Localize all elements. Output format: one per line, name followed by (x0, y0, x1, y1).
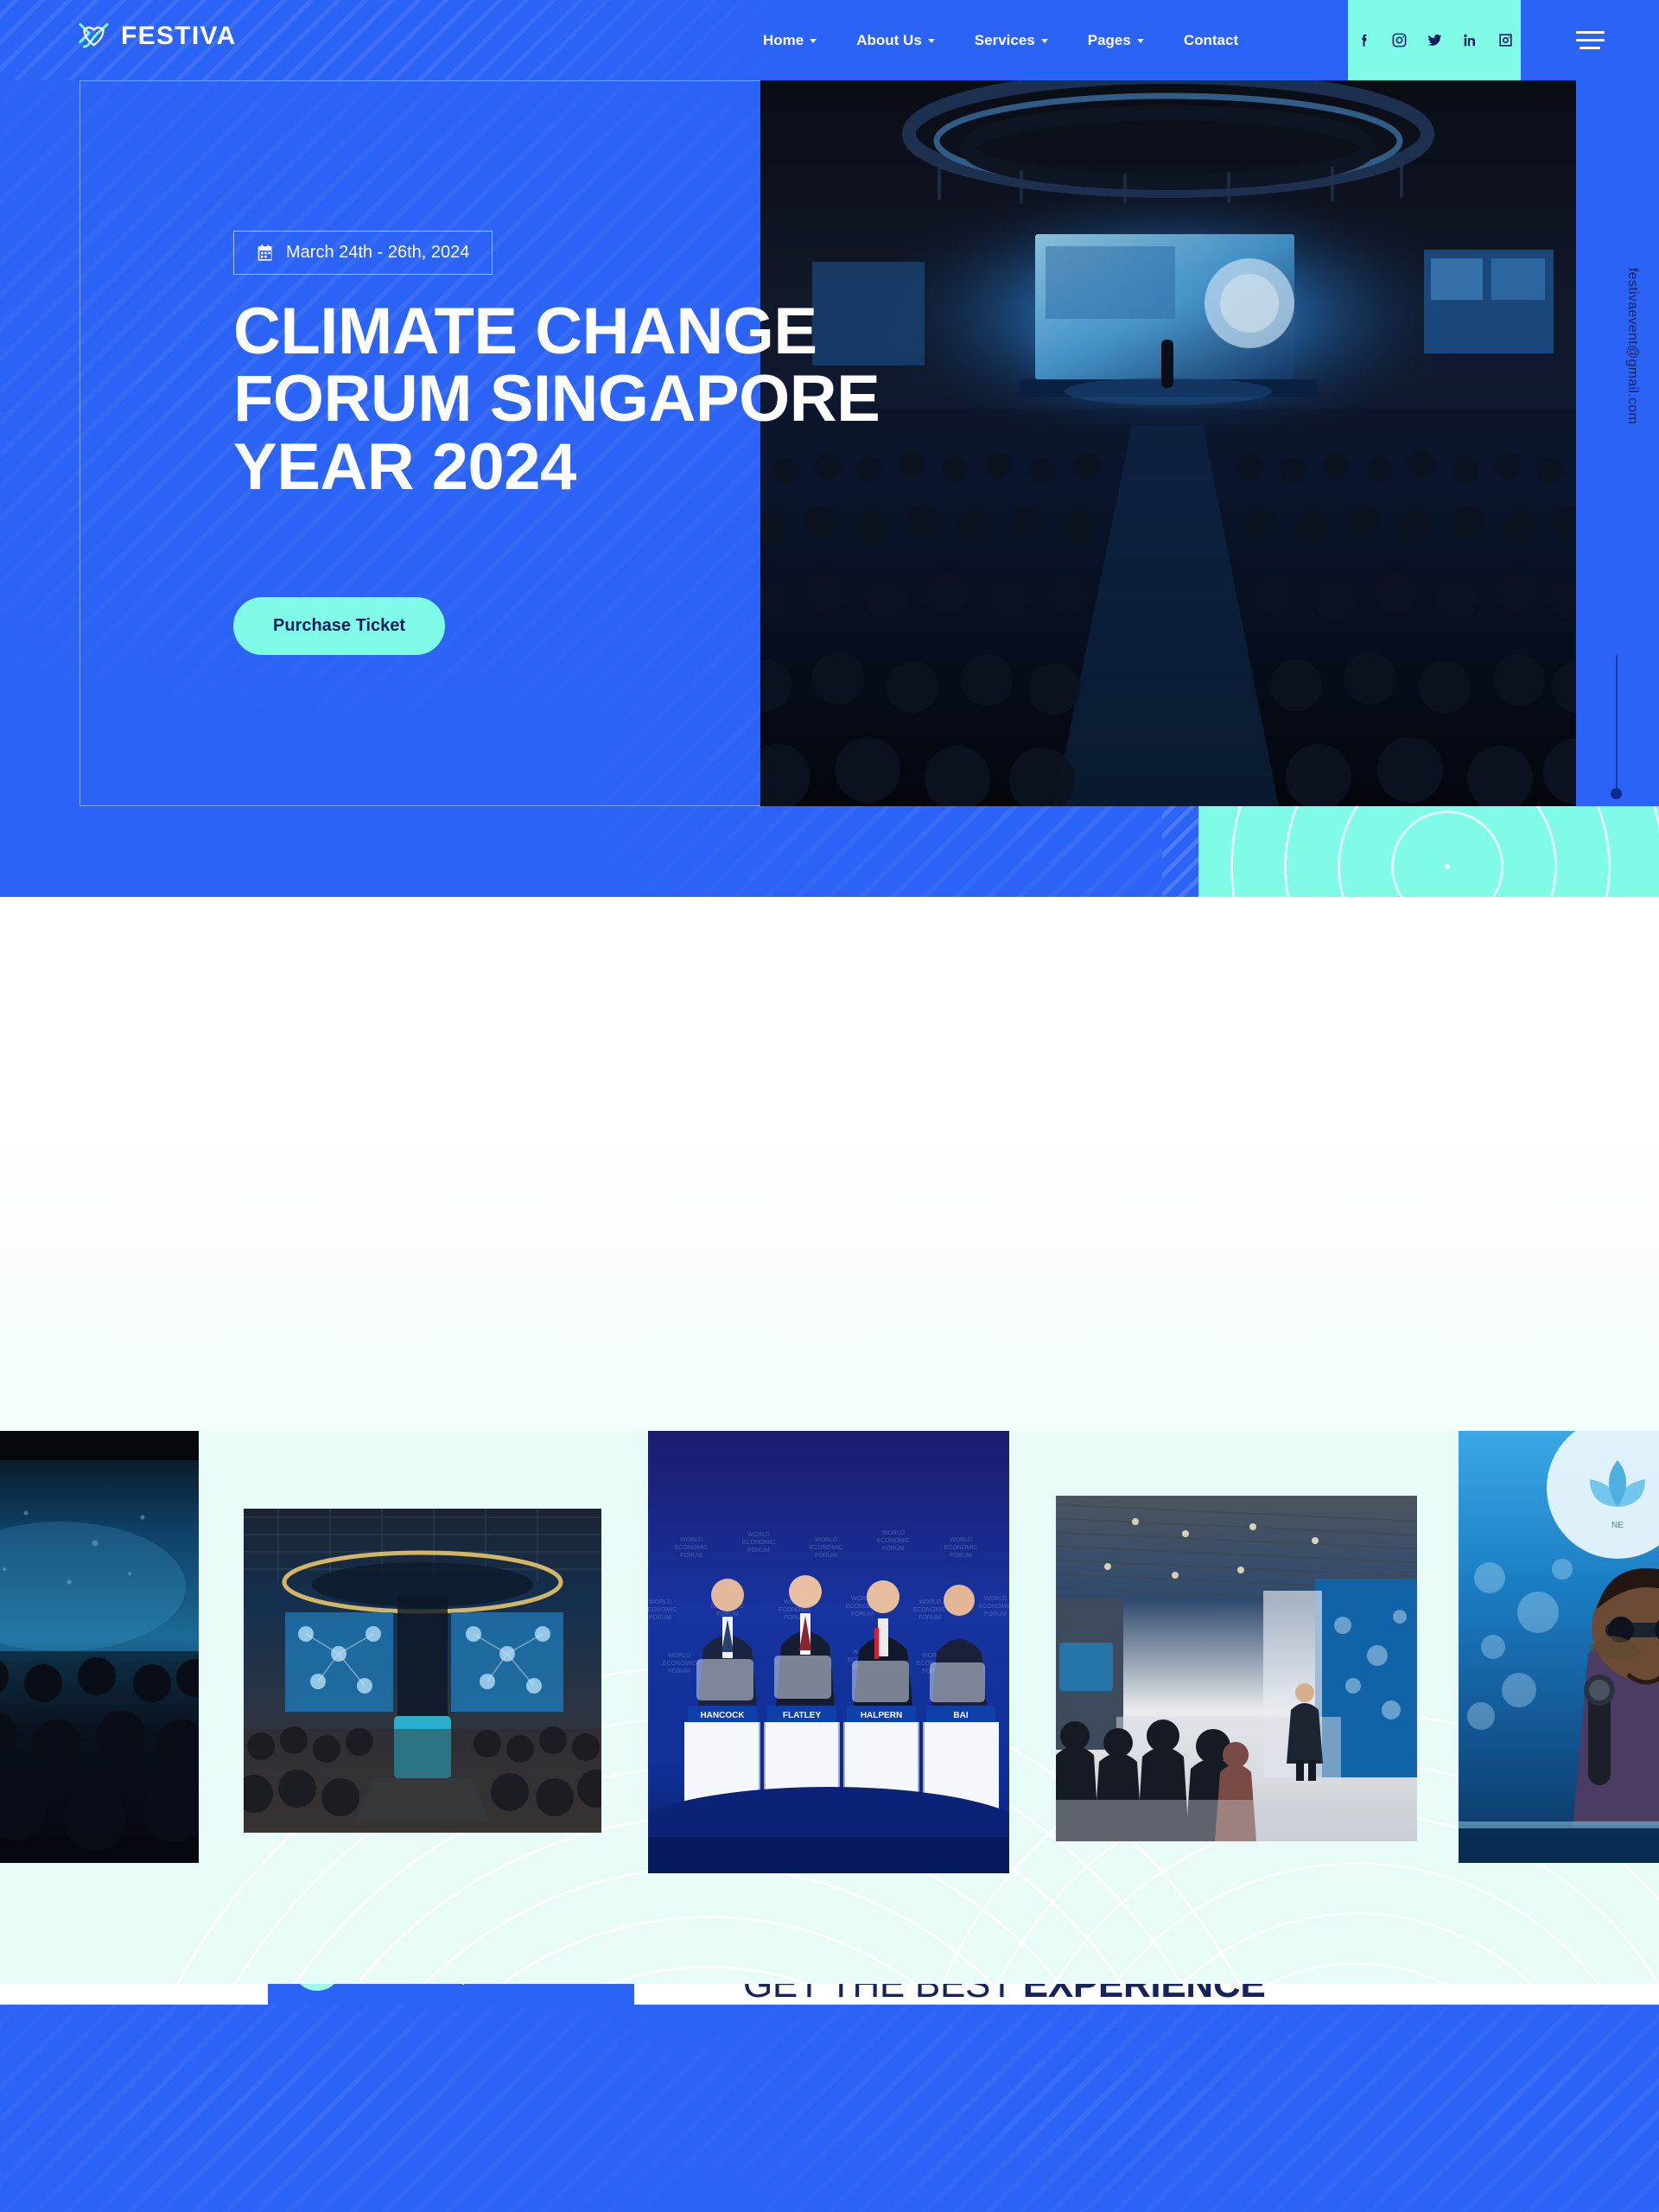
hero-mint-decoration (1162, 806, 1659, 897)
nav-label: About Us (856, 32, 922, 49)
burger-line (1580, 47, 1600, 49)
instagram-icon[interactable] (1391, 32, 1408, 48)
hero-title-line-1: CLIMATE CHANGE (233, 298, 1097, 365)
hero-blue-strip-decoration (1162, 806, 1198, 897)
svg-text:FORUM: FORUM (984, 1611, 1007, 1618)
nav-label: Pages (1088, 32, 1131, 49)
chevron-down-icon (928, 39, 935, 43)
svg-text:FORUM: FORUM (851, 1611, 874, 1618)
gallery-section: WORLDECONOMICFORUM WORLDECONOMICFORUM WO… (0, 1431, 1659, 1984)
svg-text:FORUM: FORUM (815, 1553, 837, 1559)
stats-section: 03 Days of Event 2k Registered Participa… (0, 2005, 1659, 2212)
brand-logo[interactable]: FESTIVA (78, 22, 237, 51)
event-date-text: March 24th - 26th, 2024 (286, 243, 469, 263)
facebook-icon[interactable] (1356, 32, 1372, 48)
svg-text:WORLD: WORLD (950, 1537, 972, 1543)
gallery-item-2[interactable] (244, 1509, 601, 1833)
about-event-section: 20-25 February, 2024 7.00 am - 8.00pm Mi… (0, 897, 1659, 1431)
side-scroll-line (1616, 655, 1618, 789)
hero-section: March 24th - 26th, 2024 CLIMATE CHANGE F… (0, 0, 1659, 897)
calendar-icon (257, 244, 274, 262)
svg-text:ECONOMIC: ECONOMIC (648, 1607, 677, 1613)
linkedin-icon[interactable] (1462, 32, 1478, 48)
nav-item-home[interactable]: Home (743, 32, 836, 49)
world-economic-forum-panel: WORLDECONOMICFORUM WORLDECONOMICFORUM WO… (648, 1431, 1009, 1873)
stats-diagonal-pattern (0, 2005, 1659, 2212)
gallery-item-5[interactable]: NE (1459, 1431, 1659, 1863)
svg-text:FORUM: FORUM (649, 1615, 671, 1621)
conference-audience-dark-hall (0, 1431, 199, 1863)
svg-text:FORUM: FORUM (747, 1548, 770, 1554)
twitter-icon[interactable] (1427, 32, 1443, 48)
menu-toggle-button[interactable] (1521, 0, 1659, 80)
instagram-square-icon[interactable] (1497, 32, 1514, 48)
svg-text:FORUM: FORUM (950, 1553, 972, 1559)
nav-label: Home (763, 32, 804, 49)
svg-text:WORLD: WORLD (680, 1537, 702, 1543)
svg-text:WORLD: WORLD (984, 1596, 1007, 1602)
svg-text:ECONOMIC: ECONOMIC (877, 1538, 911, 1544)
svg-text:ECONOMIC: ECONOMIC (742, 1540, 776, 1546)
svg-text:FORUM: FORUM (882, 1546, 905, 1552)
svg-text:WORLD: WORLD (668, 1653, 690, 1659)
svg-text:WORLD: WORLD (882, 1530, 905, 1536)
side-email-link[interactable]: festivaevent@gmail.com (1624, 268, 1640, 424)
social-links (1348, 0, 1521, 80)
svg-text:WORLD: WORLD (747, 1532, 770, 1538)
svg-text:ECONOMIC: ECONOMIC (979, 1604, 1009, 1610)
svg-text:FORUM: FORUM (716, 1611, 739, 1618)
side-scroll-dot[interactable] (1611, 788, 1622, 799)
svg-text:WORLD: WORLD (918, 1599, 941, 1605)
svg-text:WORLD: WORLD (649, 1599, 671, 1605)
nav-item-services[interactable]: Services (955, 32, 1068, 49)
burger-line (1576, 31, 1605, 34)
svg-text:FLATLEY: FLATLEY (783, 1711, 822, 1720)
site-header: FESTIVA Home About Us Services Pages Con… (0, 0, 1659, 80)
svg-text:HALPERN: HALPERN (861, 1711, 902, 1720)
brand-name: FESTIVA (121, 22, 237, 51)
nav-item-about-us[interactable]: About Us (836, 32, 955, 49)
nav-item-pages[interactable]: Pages (1068, 32, 1164, 49)
nav-item-contact[interactable]: Contact (1164, 32, 1258, 49)
svg-text:ECONOMIC: ECONOMIC (810, 1545, 843, 1551)
gallery-item-4[interactable] (1056, 1496, 1417, 1841)
chevron-down-icon (1041, 39, 1048, 43)
svg-text:ECONOMIC: ECONOMIC (913, 1607, 947, 1613)
gallery-item-1[interactable] (0, 1431, 199, 1863)
speaker-with-microphone: NE (1459, 1431, 1659, 1863)
exhibition-hall-presentation (1056, 1496, 1417, 1841)
svg-text:ECONOMIC: ECONOMIC (944, 1545, 978, 1551)
festiva-x-logo-icon (78, 22, 110, 51)
chevron-down-icon (1137, 39, 1144, 43)
svg-text:FORUM: FORUM (918, 1615, 941, 1621)
hero-title-line-3: YEAR 2024 (233, 434, 1097, 501)
svg-text:BAI: BAI (953, 1711, 968, 1720)
arc-pattern (1162, 806, 1659, 897)
hero-title: CLIMATE CHANGE FORUM SINGAPORE YEAR 2024 (233, 298, 1097, 501)
svg-text:FORUM: FORUM (680, 1553, 702, 1559)
nav-label: Services (975, 32, 1035, 49)
hero-title-line-2: FORUM SINGAPORE (233, 365, 1097, 433)
nav-label: Contact (1184, 32, 1238, 49)
svg-text:WORLD: WORLD (815, 1537, 837, 1543)
svg-text:ECONOMIC: ECONOMIC (675, 1545, 709, 1551)
svg-text:ECONOMIC: ECONOMIC (779, 1607, 812, 1613)
gallery-item-3[interactable]: WORLDECONOMICFORUM WORLDECONOMICFORUM WO… (648, 1431, 1009, 1873)
main-navigation: Home About Us Services Pages Contact (743, 0, 1258, 80)
purchase-ticket-button[interactable]: Purchase Ticket (233, 597, 445, 655)
svg-text:NE: NE (1611, 1521, 1624, 1530)
svg-text:ECONOMIC: ECONOMIC (663, 1661, 696, 1667)
svg-text:FORUM: FORUM (668, 1669, 690, 1675)
chevron-down-icon (810, 39, 817, 43)
burger-line (1576, 39, 1605, 41)
event-date-badge: March 24th - 26th, 2024 (233, 231, 493, 275)
svg-text:HANCOCK: HANCOCK (700, 1711, 745, 1720)
round-stage-with-screens (244, 1509, 601, 1833)
